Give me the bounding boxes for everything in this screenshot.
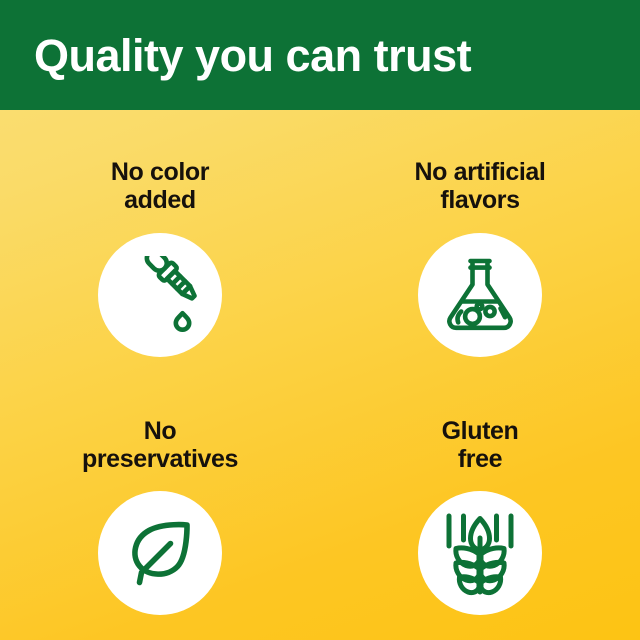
feature-icon-circle bbox=[98, 491, 222, 615]
wheat-icon bbox=[440, 510, 520, 596]
feature-label: No preservatives bbox=[82, 417, 238, 474]
feature-gluten-free: Gluten free bbox=[320, 375, 640, 640]
feature-no-preservatives: No preservatives bbox=[0, 375, 320, 640]
dropper-icon bbox=[121, 256, 199, 334]
flask-icon bbox=[440, 255, 520, 335]
feature-no-color-added: No color added bbox=[0, 110, 320, 375]
feature-icon-circle bbox=[418, 233, 542, 357]
feature-no-artificial-flavors: No artificial flavors bbox=[320, 110, 640, 375]
quality-badge-panel: Quality you can trust No color added bbox=[0, 0, 640, 640]
feature-label: No artificial flavors bbox=[415, 158, 546, 215]
header-band: Quality you can trust bbox=[0, 0, 640, 110]
feature-label: No color added bbox=[111, 158, 209, 215]
feature-label: Gluten free bbox=[442, 417, 519, 474]
page-title: Quality you can trust bbox=[34, 33, 471, 78]
features-grid: No color added bbox=[0, 110, 640, 640]
feature-icon-circle bbox=[98, 233, 222, 357]
feature-icon-circle bbox=[418, 491, 542, 615]
leaf-icon bbox=[123, 516, 197, 590]
